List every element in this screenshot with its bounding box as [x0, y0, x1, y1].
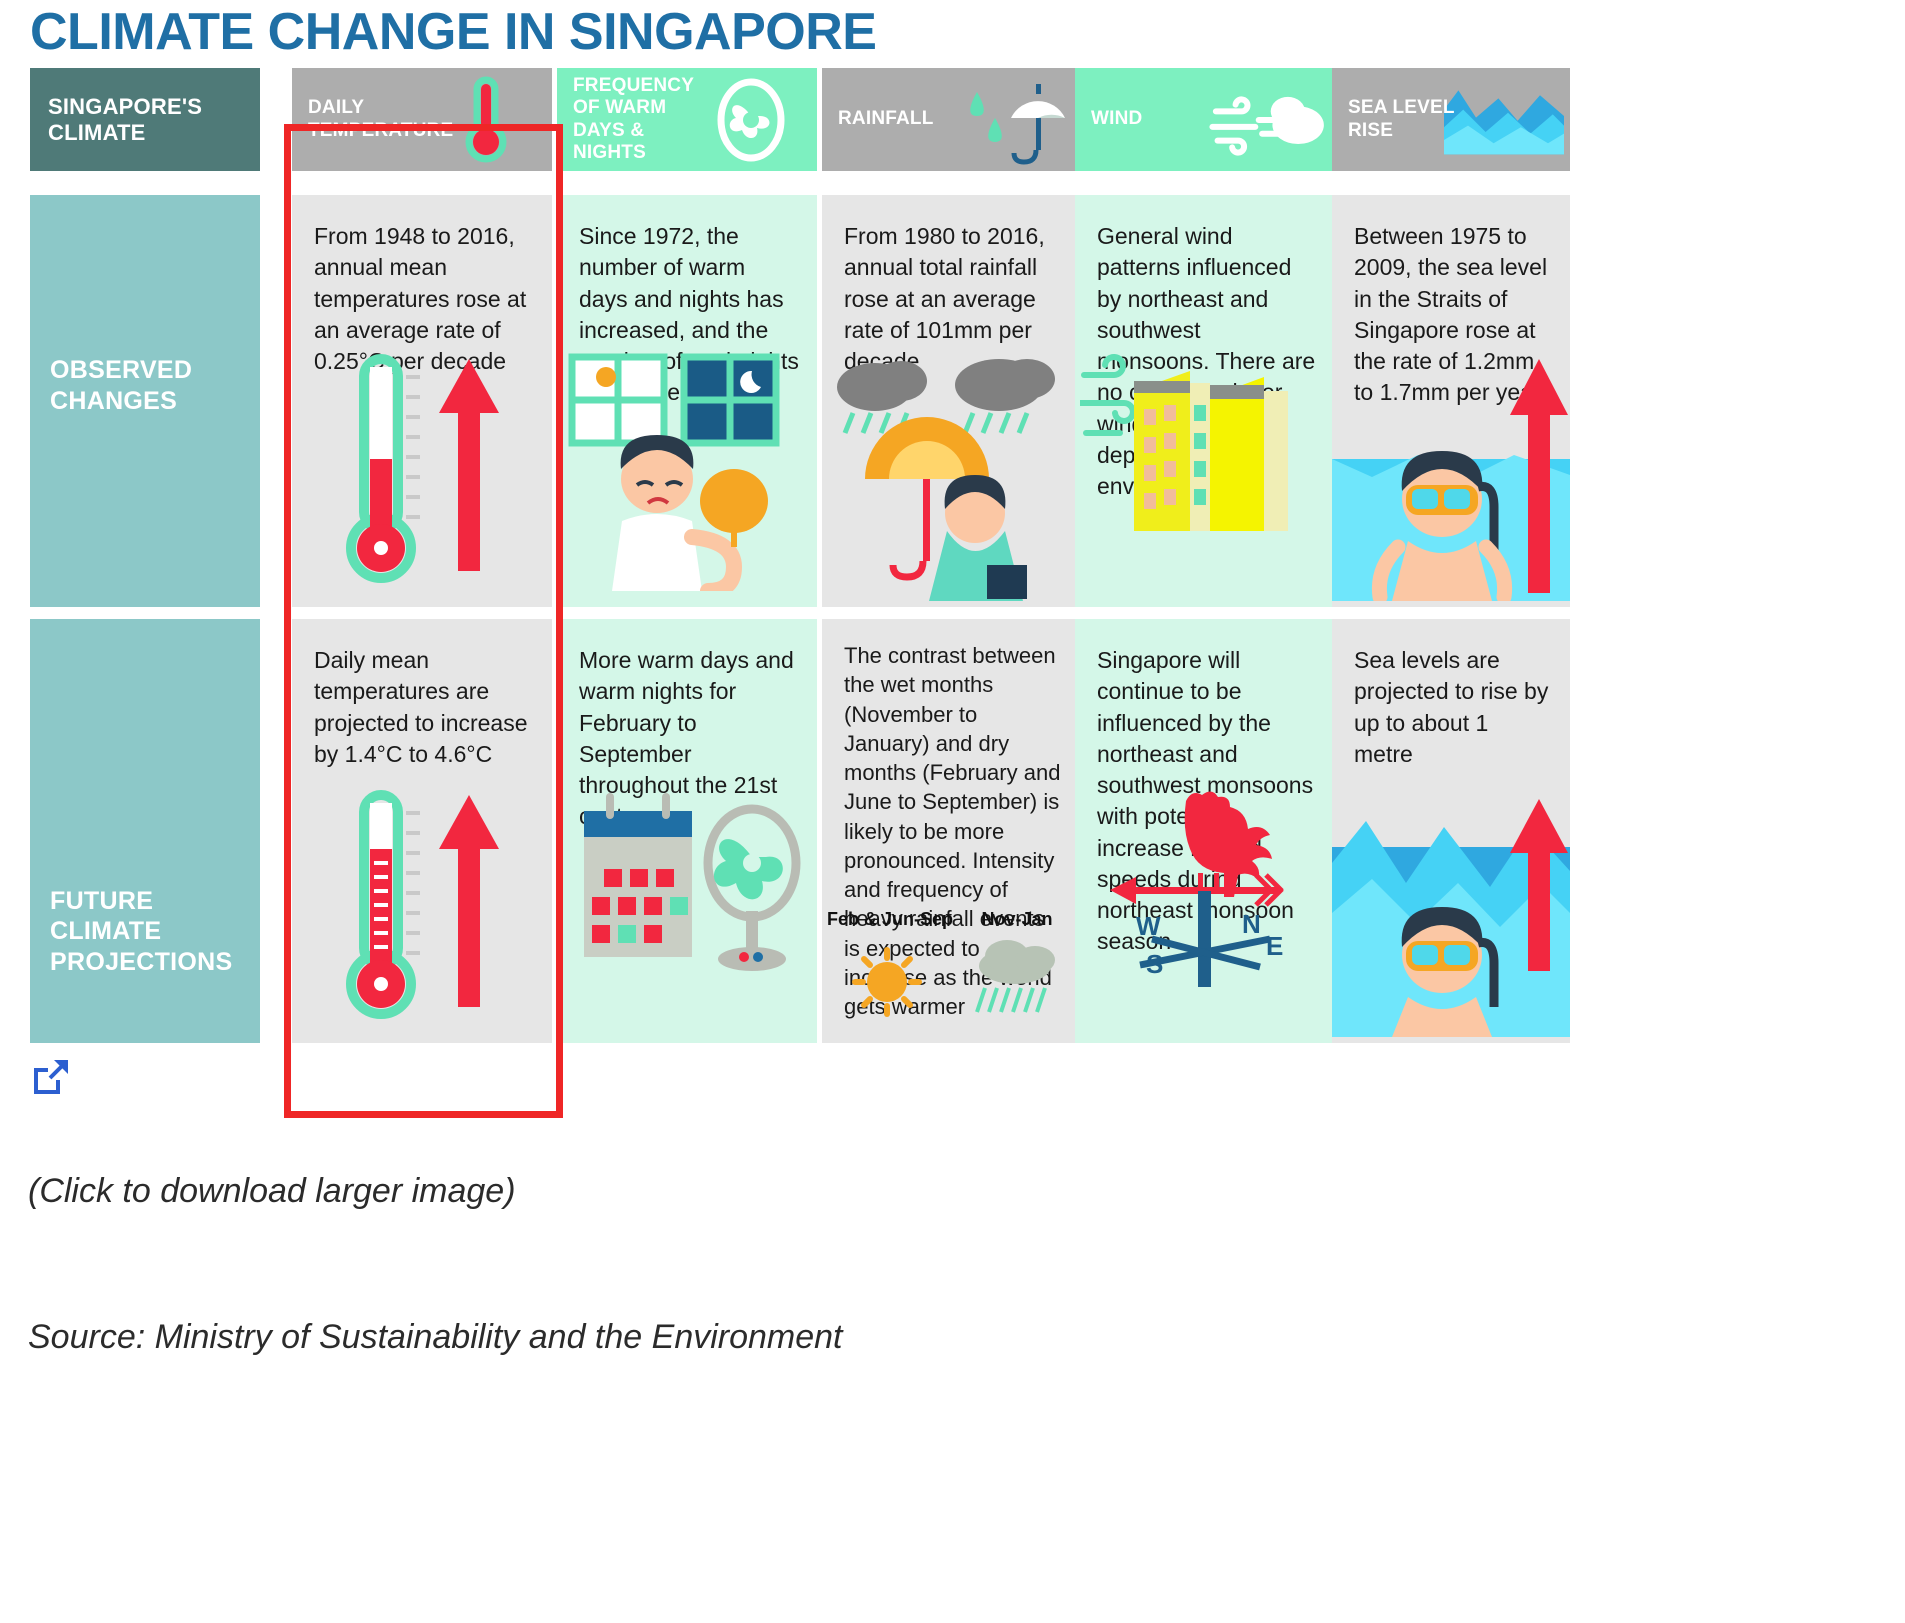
thermometer-up-arrow-icon	[292, 351, 552, 601]
person-fanning-windows-icon	[557, 351, 817, 601]
infographic-page: CLIMATE CHANGE IN SINGAPORE SINGAPORE'S …	[0, 0, 1905, 1623]
header-label-wind: WIND	[1075, 108, 1142, 130]
source-note: Source: Ministry of Sustainability and t…	[28, 1318, 843, 1357]
future-cell-frequency-warm-days-nights: More warm days and warm nights for Febru…	[557, 619, 817, 1043]
season-label-wet: Nov-Jan	[957, 909, 1077, 930]
header-frequency-warm-days-nights[interactable]: FREQUENCY OF WARM DAYS & NIGHTS	[557, 68, 817, 171]
header-label-sea-level-rise: SEA LEVEL RISE	[1332, 97, 1482, 142]
future-projections-label-cell: FUTURE CLIMATE PROJECTIONS	[30, 619, 260, 1043]
header-daily-temperature[interactable]: DAILY TEMPERATURE	[292, 68, 552, 171]
column-daily-temperature[interactable]: DAILY TEMPERATURE From 1948 to 2016, ann…	[292, 68, 552, 1043]
sun-icon	[844, 934, 930, 1020]
future-cell-rainfall: The contrast between the wet months (Nov…	[822, 619, 1082, 1043]
header-wind[interactable]: WIND	[1075, 68, 1335, 171]
weather-vane-icon: N E S W	[1075, 787, 1335, 1037]
person-umbrella-rain-cloud-icon	[822, 351, 1082, 601]
calendar-fan-icon	[557, 787, 817, 1037]
column-sea-level-rise[interactable]: SEA LEVEL RISE Between 1975 to 2009, the…	[1332, 68, 1570, 1043]
svg-text:W: W	[1136, 911, 1161, 941]
svg-text:S: S	[1146, 949, 1163, 979]
season-dry: Feb & Jun-Sep	[827, 909, 947, 1025]
column-wind[interactable]: WIND Gener	[1075, 68, 1335, 1043]
observed-text-rainfall: From 1980 to 2016, annual total rainfall…	[822, 195, 1082, 377]
column-frequency-warm-days-nights[interactable]: FREQUENCY OF WARM DAYS & NIGHTS Since 19…	[557, 68, 817, 1043]
observed-text-daily-temperature: From 1948 to 2016, annual mean temperatu…	[292, 195, 552, 377]
climate-table: SINGAPORE'S CLIMATE OBSERVED CHANGES FUT…	[30, 68, 1570, 1053]
rainfall-season-legend: Feb & Jun-Sep Nov-Jan	[822, 909, 1082, 1025]
future-text-daily-temperature: Daily mean temperatures are projected to…	[292, 619, 552, 770]
rain-cloud-icon	[969, 934, 1065, 1020]
season-label-dry: Feb & Jun-Sep	[827, 909, 947, 930]
wind-buildings-icon	[1075, 351, 1335, 601]
svg-text:N: N	[1242, 909, 1261, 939]
future-projections-label: FUTURE CLIMATE PROJECTIONS	[30, 886, 260, 978]
future-cell-wind: Singapore will continue to be influenced…	[1075, 619, 1335, 1043]
snorkeler-high-sea-icon	[1332, 787, 1570, 1037]
corner-header-cell: SINGAPORE'S CLIMATE	[30, 68, 260, 171]
observed-cell-sea-level-rise: Between 1975 to 2009, the sea level in t…	[1332, 195, 1570, 607]
observed-changes-label-cell: OBSERVED CHANGES	[30, 195, 260, 607]
future-text-sea-level-rise: Sea levels are projected to rise by up t…	[1332, 619, 1570, 770]
umbrella-raindrops-icon	[956, 68, 1076, 171]
column-rainfall[interactable]: RAINFALL From 1980 to 2016, annual total…	[822, 68, 1082, 1043]
external-link-icon[interactable]	[30, 1058, 70, 1098]
wind-cloud-icon	[1209, 68, 1329, 171]
thermometer-up-arrow-icon	[292, 787, 552, 1037]
svg-text:E: E	[1266, 931, 1283, 961]
header-label-rainfall: RAINFALL	[822, 108, 934, 130]
observed-cell-rainfall: From 1980 to 2016, annual total rainfall…	[822, 195, 1082, 607]
future-cell-daily-temperature: Daily mean temperatures are projected to…	[292, 619, 552, 1043]
header-sea-level-rise[interactable]: SEA LEVEL RISE	[1332, 68, 1570, 171]
future-cell-sea-level-rise: Sea levels are projected to rise by up t…	[1332, 619, 1570, 1043]
header-rainfall[interactable]: RAINFALL	[822, 68, 1082, 171]
observed-cell-daily-temperature: From 1948 to 2016, annual mean temperatu…	[292, 195, 552, 607]
season-wet: Nov-Jan	[957, 909, 1077, 1025]
observed-cell-wind: General wind patterns influenced by nort…	[1075, 195, 1335, 607]
page-title: CLIMATE CHANGE IN SINGAPORE	[30, 2, 876, 62]
download-note[interactable]: (Click to download larger image)	[28, 1172, 516, 1211]
header-label-frequency-warm-days-nights: FREQUENCY OF WARM DAYS & NIGHTS	[557, 75, 707, 165]
header-label-daily-temperature: DAILY TEMPERATURE	[292, 97, 442, 142]
row-label-column: SINGAPORE'S CLIMATE OBSERVED CHANGES FUT…	[30, 68, 260, 1043]
observed-changes-label: OBSERVED CHANGES	[30, 355, 260, 416]
corner-header-label: SINGAPORE'S CLIMATE	[30, 94, 230, 146]
fan-icon	[691, 68, 811, 171]
snorkeler-rising-sea-icon	[1332, 351, 1570, 601]
observed-cell-frequency-warm-days-nights: Since 1972, the number of warm days and …	[557, 195, 817, 607]
